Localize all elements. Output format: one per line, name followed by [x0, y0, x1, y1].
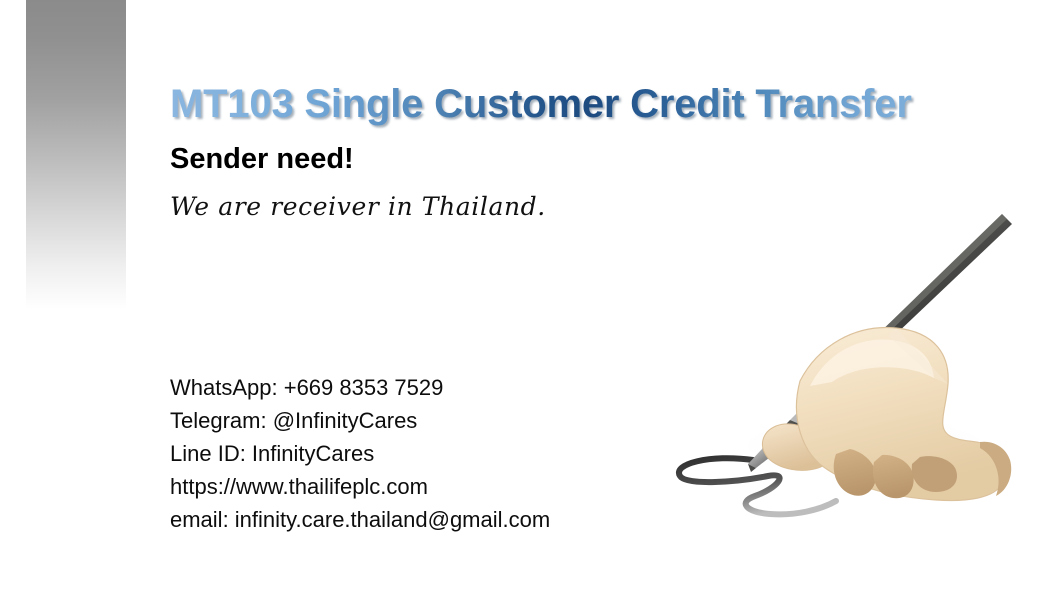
contact-block: WhatsApp: +669 8353 7529 Telegram: @Infi… [170, 371, 690, 536]
page-title: MT103 Single Customer Credit Transfer [170, 80, 1010, 128]
contact-line-website[interactable]: https://www.thailifeplc.com [170, 470, 690, 503]
hand-writing-illustration [650, 196, 1050, 536]
script-subtitle: We are receiver in Thailand. [170, 192, 546, 221]
left-gradient-strip [26, 0, 126, 310]
contact-line-telegram: Telegram: @InfinityCares [170, 404, 690, 437]
headline-sender-need: Sender need! [170, 143, 354, 176]
contact-line-email[interactable]: email: infinity.care.thailand@gmail.com [170, 503, 690, 536]
contact-line-lineid: Line ID: InfinityCares [170, 437, 690, 470]
contact-line-whatsapp: WhatsApp: +669 8353 7529 [170, 371, 690, 404]
